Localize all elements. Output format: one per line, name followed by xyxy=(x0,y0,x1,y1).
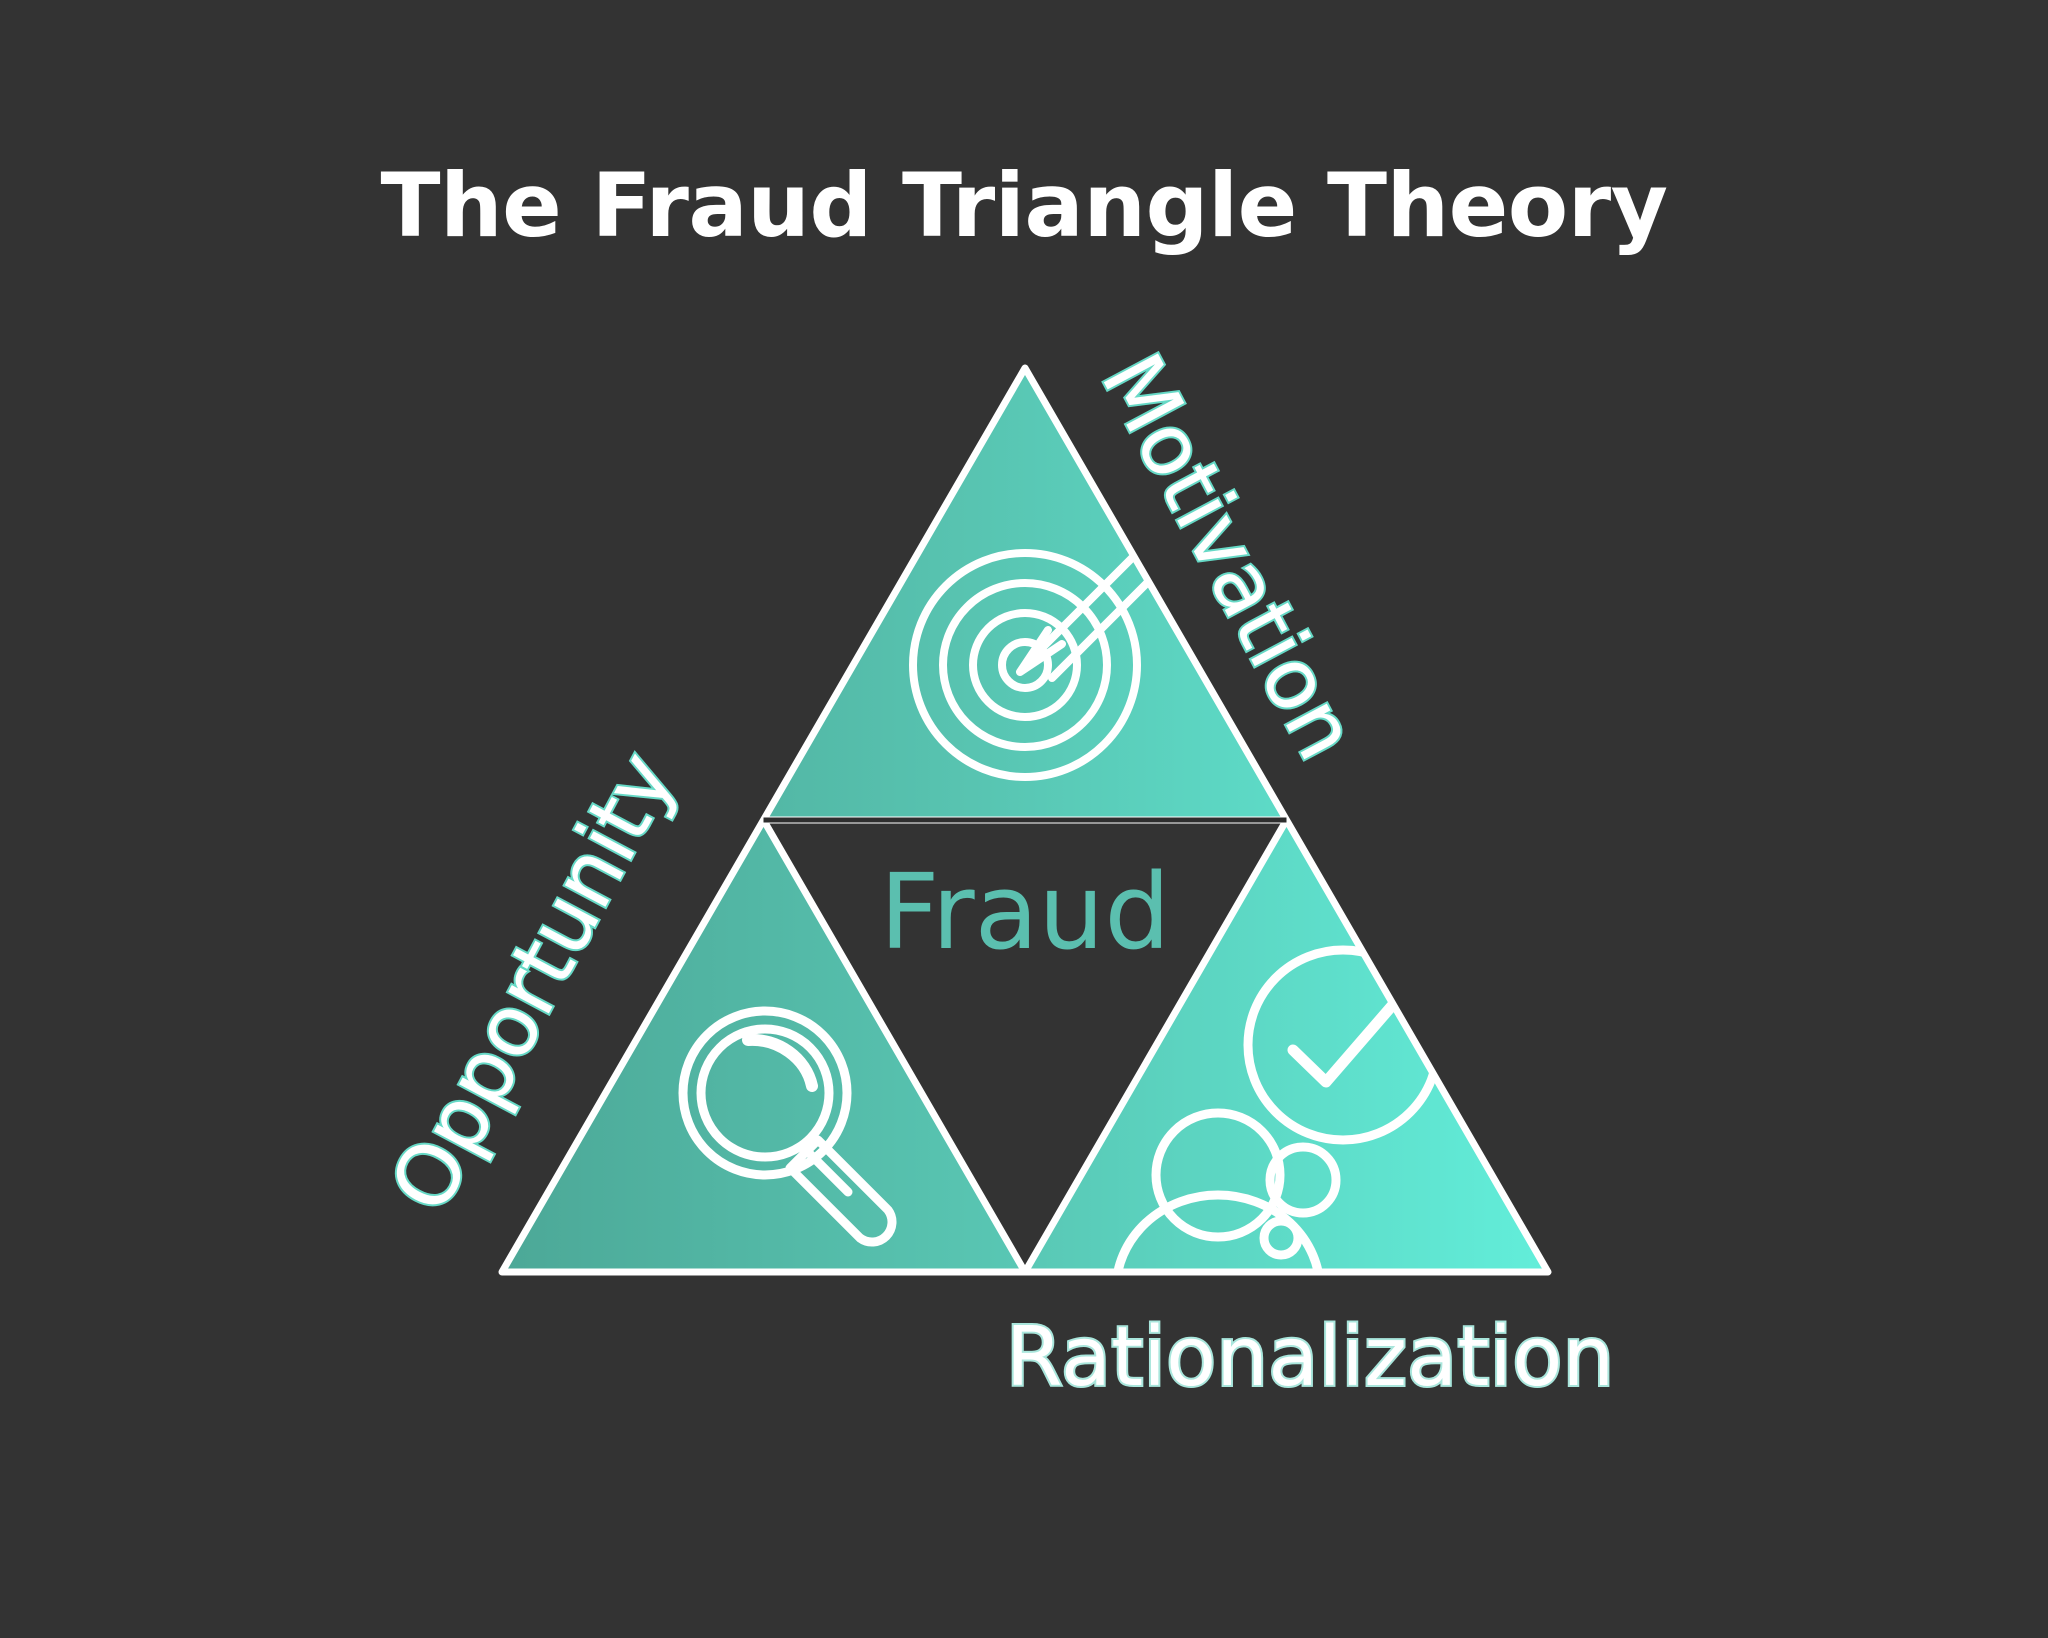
fraud-triangle-diagram: Fraud xyxy=(0,0,2048,1638)
edge-label-rationalization: Rationalization xyxy=(1006,1310,1615,1405)
diagram-canvas: The Fraud Triangle Theory Fraud xyxy=(0,0,2048,1638)
center-label-fraud: Fraud xyxy=(880,851,1171,973)
